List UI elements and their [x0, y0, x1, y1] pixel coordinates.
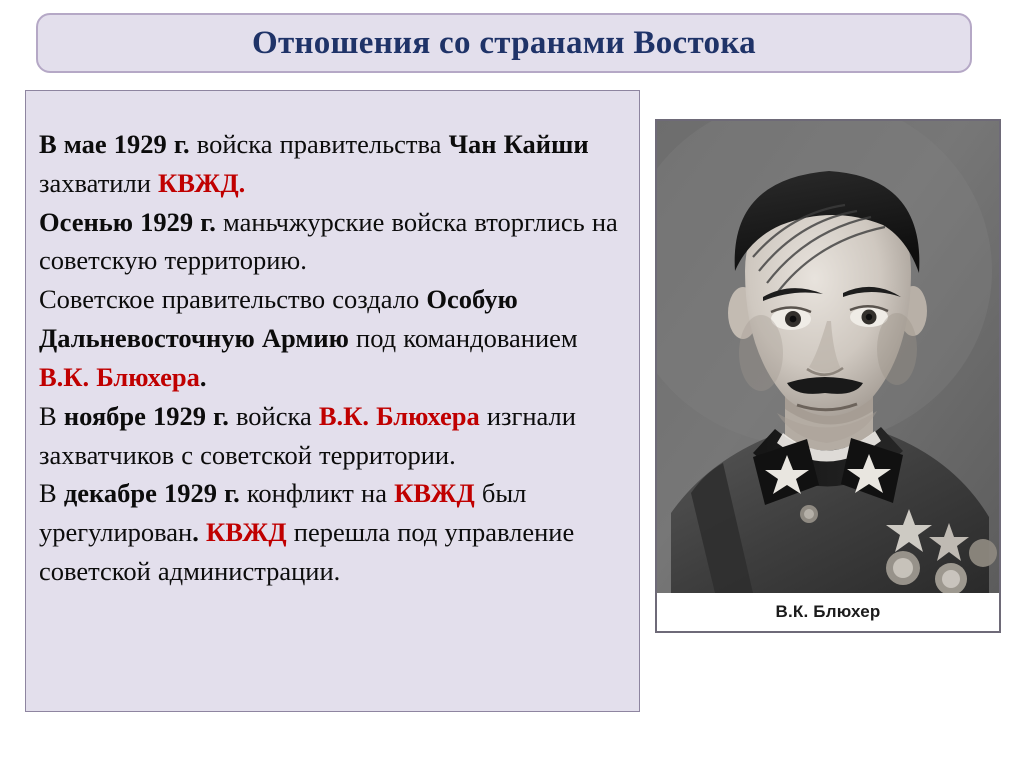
photo-caption-label: В.К. Блюхер — [775, 602, 880, 622]
text-run-normal: захватили — [39, 168, 158, 198]
text-run-red: В.К. Блюхера — [319, 401, 480, 431]
body-paragraph: В ноябре 1929 г. войска В.К. Блюхера изг… — [39, 397, 625, 475]
text-run-bold: Чан Кайши — [449, 129, 589, 159]
content-panel: В мае 1929 г. войска правительства Чан К… — [25, 90, 640, 712]
portrait-illustration — [657, 121, 999, 593]
portrait-photograph-blyukher — [657, 121, 999, 593]
body-paragraph: В декабре 1929 г. конфликт на КВЖД был у… — [39, 474, 625, 590]
body-paragraph: В мае 1929 г. войска правительства Чан К… — [39, 125, 625, 203]
photo-card: В.К. Блюхер — [655, 119, 1001, 633]
text-run-normal — [199, 517, 206, 547]
text-run-normal: В — [39, 478, 64, 508]
body-paragraph: Советское правительство создало Особую Д… — [39, 280, 625, 396]
text-run-normal: В — [39, 401, 64, 431]
text-run-red: КВЖД. — [158, 168, 245, 198]
text-run-red: КВЖД — [394, 478, 475, 508]
text-run-red: КВЖД — [206, 517, 287, 547]
text-run-red: В.К. Блюхера — [39, 362, 200, 392]
text-run-bold: ноябре 1929 г. — [64, 401, 229, 431]
text-run-normal: Советское правительство создало — [39, 284, 426, 314]
text-run-bold: В мае 1929 г. — [39, 129, 190, 159]
page-title: Отношения со странами Востока — [252, 27, 756, 60]
text-run-bold: . — [192, 517, 199, 547]
text-run-bold: Осенью 1929 г. — [39, 207, 216, 237]
body-paragraph: Осенью 1929 г. маньчжурские войска вторг… — [39, 203, 625, 281]
text-run-bold: декабре 1929 г. — [64, 478, 240, 508]
text-run-normal: войска правительства — [190, 129, 449, 159]
photo-caption: В.К. Блюхер — [657, 593, 999, 631]
text-run-bold: . — [200, 362, 207, 392]
text-run-normal: войска — [229, 401, 319, 431]
text-run-normal: под командованием — [349, 323, 578, 353]
body-text-block: В мае 1929 г. войска правительства Чан К… — [39, 125, 625, 591]
text-run-normal: конфликт на — [240, 478, 394, 508]
slide-title-banner: Отношения со странами Востока — [36, 13, 972, 73]
